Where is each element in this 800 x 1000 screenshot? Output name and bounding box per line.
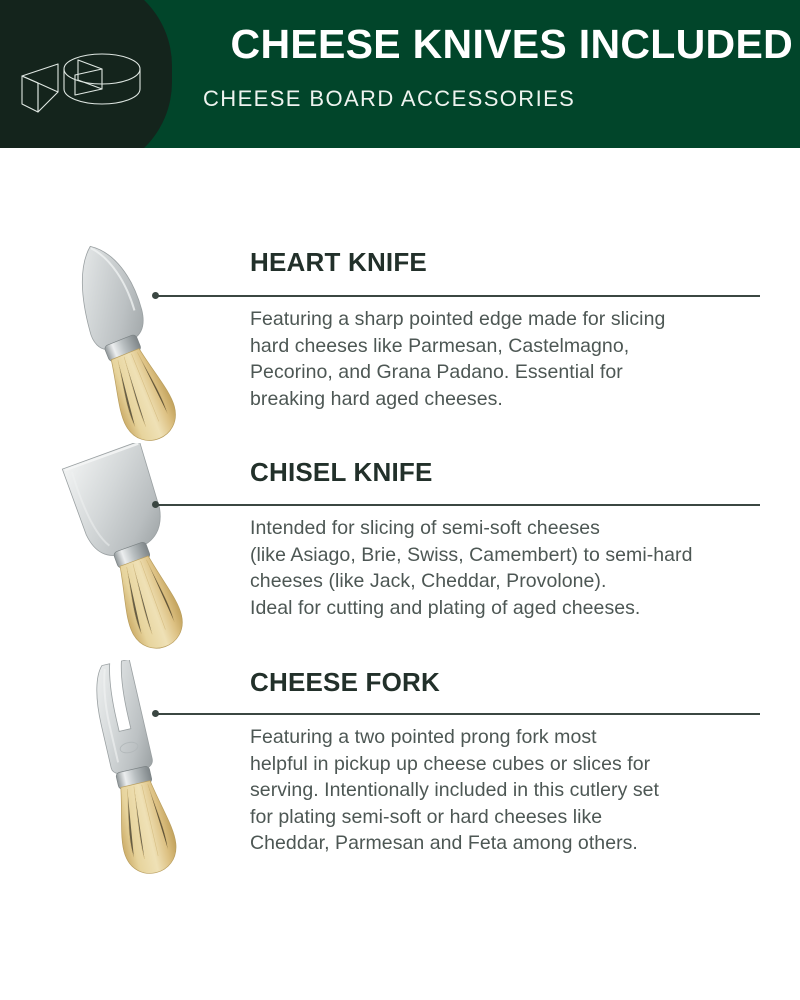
connector-line-1 [156,295,760,297]
page-header: CHEESE KNIVES INCLUDED CHEESE BOARD ACCE… [0,0,800,148]
section-heading-cheese-fork: CHEESE FORK [250,669,440,695]
connector-line-2 [156,504,760,506]
header-text-block: CHEESE KNIVES INCLUDED CHEESE BOARD ACCE… [203,0,800,148]
heart-knife-image [45,232,220,442]
section-heading-heart-knife: HEART KNIFE [250,249,427,275]
page-subtitle: CHEESE BOARD ACCESSORIES [203,88,793,110]
section-body-cheese-fork: Featuring a two pointed prong fork most … [250,724,780,857]
chisel-knife-image [45,443,220,658]
section-body-chisel-knife: Intended for slicing of semi-soft cheese… [250,515,780,621]
cheese-fork-image [45,660,220,875]
cheese-wedge-and-wheel-icon [18,42,148,118]
connector-line-3 [156,713,760,715]
page-title: CHEESE KNIVES INCLUDED [203,24,798,65]
section-heading-chisel-knife: CHISEL KNIFE [250,459,433,485]
section-body-heart-knife: Featuring a sharp pointed edge made for … [250,306,770,412]
